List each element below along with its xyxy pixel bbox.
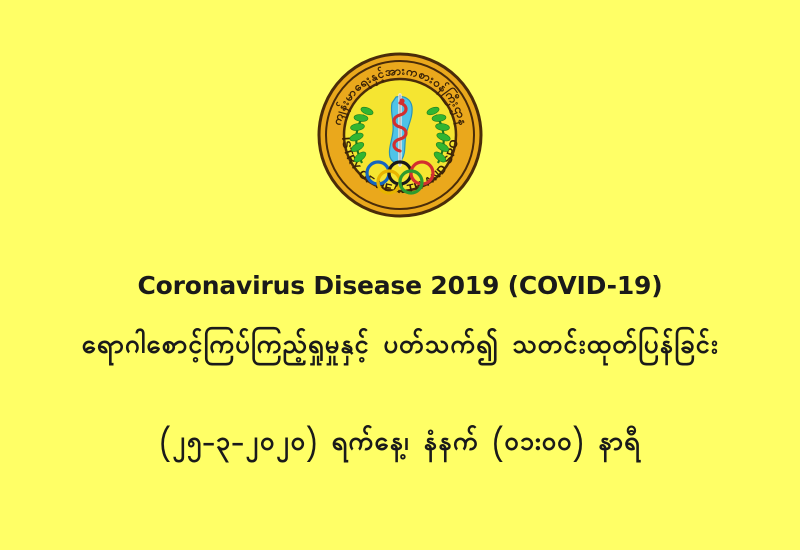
subtitle-burmese: ရောဂါစောင့်ကြပ်ကြည့်ရှုမှုနှင့် ပတ်သက်၍ … bbox=[0, 327, 800, 368]
announcement-text-block: Coronavirus Disease 2019 (COVID-19) ရောဂ… bbox=[0, 270, 800, 464]
covid19-announcement-slide: ကျန်းမာရေးနှင့်အားကစားဝန်ကြီးဌာန MINISTR… bbox=[0, 0, 800, 550]
ministry-seal-logo: ကျန်းမာရေးနှင့်အားကစားဝန်ကြီးဌာန MINISTR… bbox=[316, 33, 484, 237]
ministry-seal-icon: ကျန်းမာရေးနှင့်အားကစားဝန်ကြီးဌာန MINISTR… bbox=[316, 33, 484, 237]
page-title-english: Coronavirus Disease 2019 (COVID-19) bbox=[0, 270, 800, 301]
datetime-burmese: (၂၅-၃-၂၀၂၀) ရက်နေ့၊ နံနက် (၀၁:၀၀) နာရီ bbox=[0, 424, 800, 465]
